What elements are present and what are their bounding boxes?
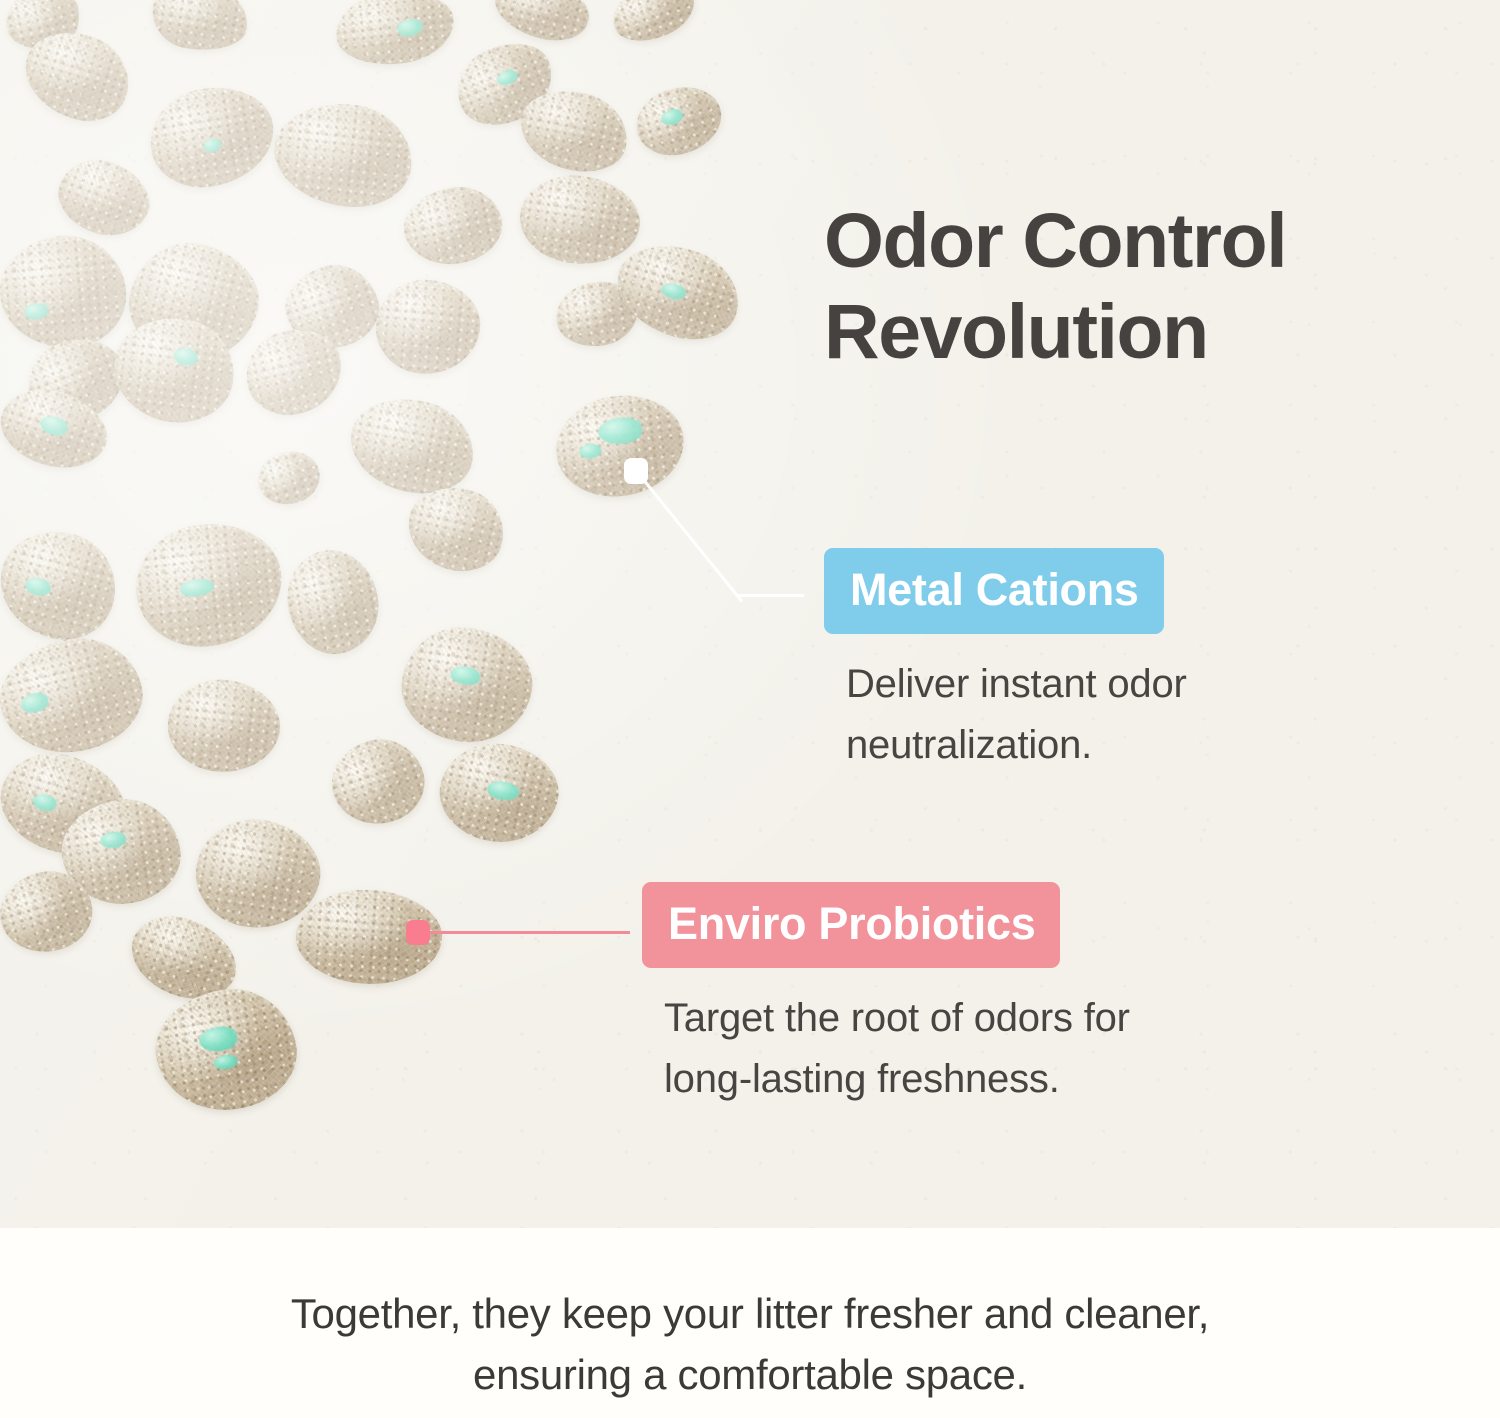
- litter-granule: [550, 389, 689, 504]
- badge-metal-cations: Metal Cations: [824, 548, 1164, 634]
- litter-granule: [14, 20, 140, 131]
- litter-granule: [401, 479, 512, 579]
- callout-line-metal-cations: [639, 475, 743, 603]
- litter-granule: [488, 0, 595, 49]
- litter-granule: [606, 0, 702, 50]
- feature-enviro-probiotics: Enviro Probiotics Target the root of odo…: [642, 882, 1130, 1110]
- litter-granule: [130, 517, 288, 654]
- callout-line-enviro-probiotics: [424, 931, 630, 934]
- callout-marker-enviro-probiotics: [406, 920, 430, 945]
- callout-line-metal-cations-horizontal: [736, 594, 804, 597]
- litter-granule: [398, 179, 509, 272]
- litter-granule: [514, 82, 635, 179]
- litter-granule: [333, 0, 458, 70]
- litter-granule: [147, 0, 252, 57]
- page-title: Odor Control Revolution: [824, 196, 1464, 378]
- litter-granule: [321, 728, 434, 836]
- litter-photo-section: Odor Control Revolution Metal Cations De…: [0, 0, 1500, 1228]
- badge-enviro-probiotics: Enviro Probiotics: [642, 882, 1060, 968]
- litter-granule: [629, 79, 728, 164]
- litter-granule: [0, 231, 131, 354]
- litter-granule: [108, 311, 240, 429]
- litter-granule: [238, 321, 349, 423]
- litter-granule: [269, 97, 417, 213]
- litter-granule: [372, 276, 484, 379]
- litter-granule: [143, 79, 281, 195]
- feature-panel: Odor Control Revolution Metal Cations De…: [824, 196, 1464, 378]
- litter-granule: [432, 734, 567, 853]
- litter-granule: [395, 620, 540, 751]
- description-enviro-probiotics: Target the root of odors for long-lastin…: [664, 988, 1130, 1110]
- caption-section: Together, they keep your litter fresher …: [0, 1228, 1500, 1418]
- product-infographic-page: Odor Control Revolution Metal Cations De…: [0, 0, 1500, 1418]
- feature-metal-cations: Metal Cations Deliver instant odor neutr…: [824, 548, 1187, 776]
- summary-caption: Together, they keep your litter fresher …: [140, 1284, 1360, 1406]
- litter-granule: [252, 445, 325, 511]
- litter-granule: [163, 674, 284, 777]
- callout-marker-metal-cations: [624, 458, 648, 484]
- description-metal-cations: Deliver instant odor neutralization.: [846, 654, 1187, 776]
- litter-granule: [343, 390, 481, 502]
- litter-granule: [280, 543, 387, 661]
- litter-granule: [147, 980, 304, 1120]
